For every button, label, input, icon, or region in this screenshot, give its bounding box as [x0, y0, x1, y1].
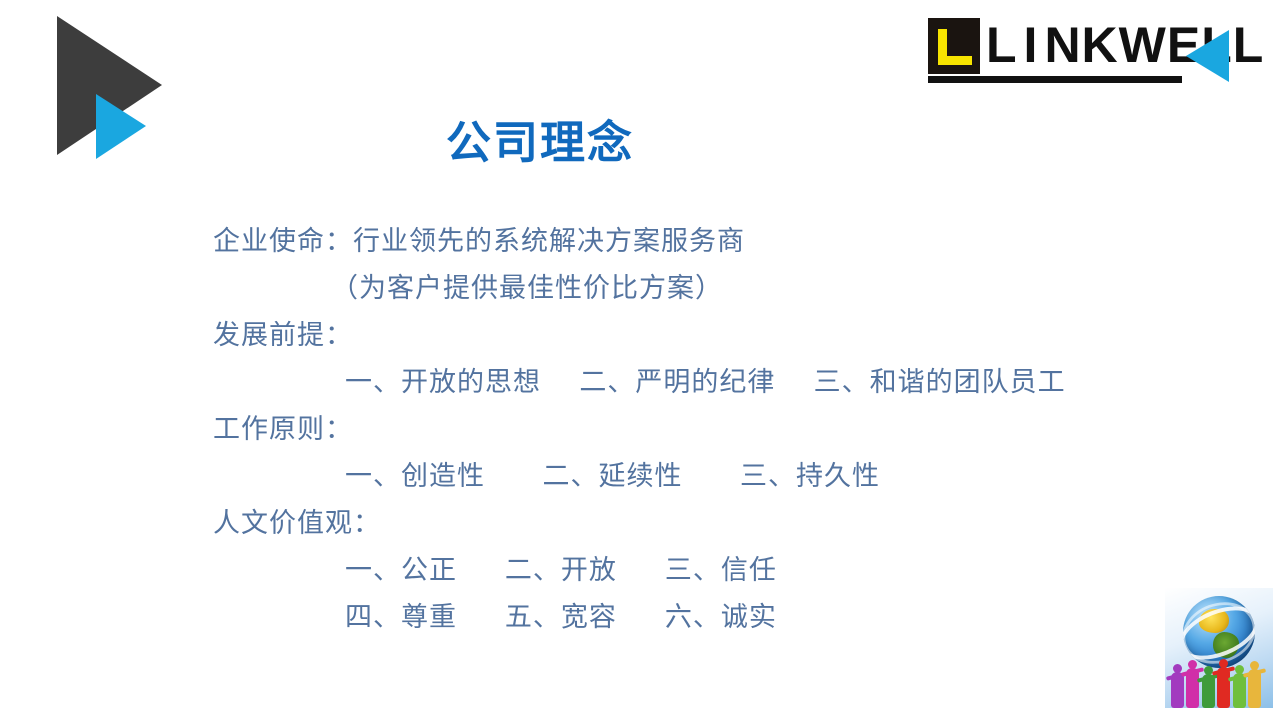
- globe-icon: [1183, 596, 1255, 668]
- person-figure-icon: [1171, 672, 1184, 708]
- globe-orbit-ring-icon: [1183, 596, 1255, 668]
- globe-with-people-image: [1165, 588, 1273, 708]
- logo-badge: [928, 18, 980, 74]
- content-body: 企业使命：行业领先的系统解决方案服务商 （为客户提供最佳性价比方案） 发展前提：…: [213, 218, 1213, 641]
- person-figure-icon: [1202, 674, 1215, 708]
- logo-underline-bar: [928, 76, 1182, 83]
- person-figure-icon: [1217, 667, 1230, 708]
- content-line: 工作原则：: [213, 406, 1213, 453]
- content-line: 人文价值观：: [213, 500, 1213, 547]
- page-title: 公司理念: [0, 106, 1080, 171]
- content-line: （为客户提供最佳性价比方案）: [213, 265, 1213, 312]
- person-figure-icon: [1233, 673, 1246, 708]
- person-figure-icon: [1186, 668, 1199, 708]
- people-group-icon: [1165, 660, 1273, 708]
- content-line: 一、创造性 二、延续性 三、持久性: [213, 453, 1213, 500]
- person-figure-icon: [1248, 669, 1261, 708]
- content-line: 一、开放的思想 二、严明的纪律 三、和谐的团队员工: [213, 359, 1213, 406]
- content-line: 企业使命：行业领先的系统解决方案服务商: [213, 218, 1213, 265]
- slide-canvas: LINKWELL 公司理念 企业使命：行业领先的系统解决方案服务商 （为客户提供…: [0, 0, 1280, 720]
- content-line: 四、尊重 五、宽容 六、诚实: [213, 594, 1213, 641]
- logo-blue-arrow-icon: [1186, 30, 1229, 82]
- linkwell-logo: LINKWELL: [928, 14, 1238, 88]
- content-line: 一、公正 二、开放 三、信任: [213, 547, 1213, 594]
- content-line: 发展前提：: [213, 312, 1213, 359]
- logo-letter-l-icon: [938, 29, 972, 65]
